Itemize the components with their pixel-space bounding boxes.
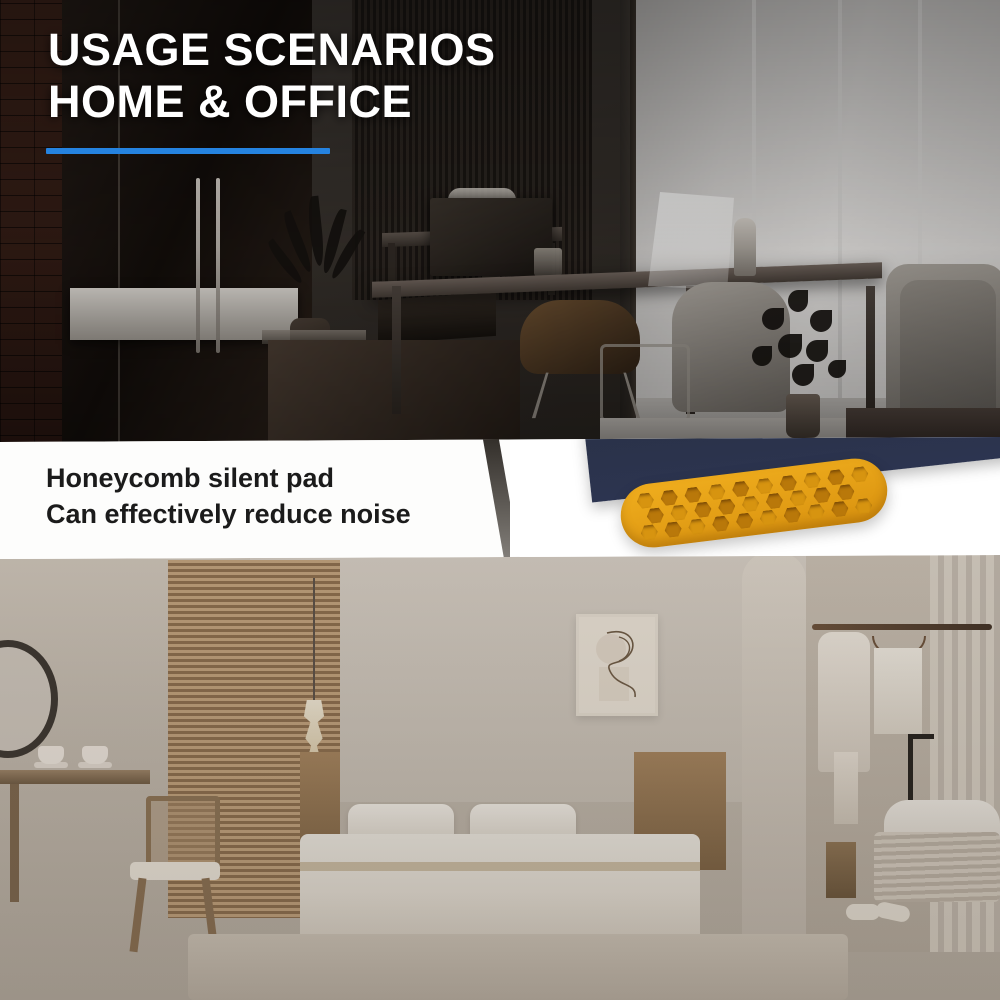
- bedroom-shading: [0, 552, 1000, 1000]
- feature-text-panel: Honeycomb silent pad Can effectively red…: [0, 437, 510, 559]
- product-marketing-image: USAGE SCENARIOS HOME & OFFICE Honeycomb …: [0, 0, 1000, 1000]
- headline-block: USAGE SCENARIOS HOME & OFFICE: [48, 24, 496, 128]
- accent-underline: [46, 148, 330, 154]
- headline-line-1: USAGE SCENARIOS: [48, 24, 496, 76]
- product-photo-cell: [510, 437, 1000, 559]
- feature-line-1: Honeycomb silent pad: [46, 461, 411, 497]
- feature-line-2: Can effectively reduce noise: [46, 497, 411, 533]
- bedroom-scene-photo: [0, 552, 1000, 1000]
- feature-band: Honeycomb silent pad Can effectively red…: [0, 437, 1000, 559]
- feature-text: Honeycomb silent pad Can effectively red…: [46, 461, 411, 533]
- headline-line-2: HOME & OFFICE: [48, 76, 496, 128]
